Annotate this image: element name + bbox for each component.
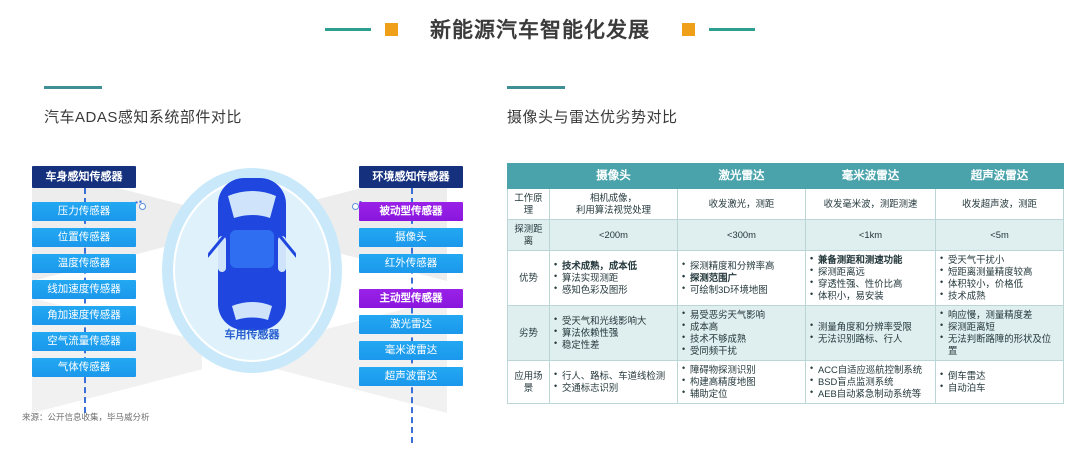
bullet-item: 无法识别路标、行人: [810, 333, 931, 345]
active-sensor-item-0[interactable]: 激光雷达: [359, 315, 463, 334]
table-cell: 收发超声波，测距: [936, 189, 1064, 220]
bullet-item: 算法实现测距: [554, 272, 673, 284]
group-spacer: [359, 280, 463, 289]
table-row: 优势技术成熟，成本低算法实现测距感知色彩及图形探测精度和分辨率高探测范围广可绘制…: [508, 251, 1064, 306]
bullet-item: 响应慢，测量精度差: [940, 309, 1059, 321]
bullet-item: 受天气和光线影响大: [554, 315, 673, 327]
bullet-item: 障碍物探测识别: [682, 364, 801, 376]
right-section-title: 摄像头与雷达优劣势对比: [507, 106, 678, 127]
body-sensor-item-5[interactable]: 空气流量传感器: [32, 332, 136, 351]
bullet-item: 兼备测距和测速功能: [810, 254, 931, 266]
active-sensor-group[interactable]: 主动型传感器: [359, 289, 463, 308]
cell-bullet-list: 兼备测距和测速功能探测距离远穿透性强、性价比高体积小，易安装: [810, 254, 931, 302]
bullet-item: 技术不够成熟: [682, 333, 801, 345]
table-cell: ACC自适应巡航控制系统BSD盲点监测系统AEB自动紧急制动系统等: [806, 361, 936, 404]
header-square-right-icon: [682, 23, 695, 36]
table-row: 工作原理相机成像，利用算法视觉处理收发激光，测距收发毫米波，测距测速收发超声波，…: [508, 189, 1064, 220]
table-cell: 技术成熟，成本低算法实现测距感知色彩及图形: [550, 251, 678, 306]
cell-bullet-list: 响应慢，测量精度差探测距离短无法判断路障的形状及位置: [940, 309, 1059, 357]
cell-bullet-list: 行人、路标、车道线检测交通标志识别: [554, 370, 673, 394]
bullet-item: 短距离测量精度较高: [940, 266, 1059, 278]
table-cell: <5m: [936, 220, 1064, 251]
table-row: 应用场景行人、路标、车道线检测交通标志识别障碍物探测识别构建高精度地图辅助定位A…: [508, 361, 1064, 404]
table-cell: 行人、路标、车道线检测交通标志识别: [550, 361, 678, 404]
table-col-mmwave: 毫米波雷达: [806, 164, 936, 189]
bullet-item: 可绘制3D环境地图: [682, 284, 801, 296]
passive-sensor-item-1[interactable]: 红外传感器: [359, 254, 463, 273]
table-cell: <300m: [678, 220, 806, 251]
left-section-rule: [44, 86, 102, 89]
passive-sensor-item-0[interactable]: 摄像头: [359, 228, 463, 247]
table-row-label: 应用场景: [508, 361, 550, 404]
table-cell: 倒车雷达自动泊车: [936, 361, 1064, 404]
bullet-item: BSD盲点监测系统: [810, 376, 931, 388]
bullet-item: 倒车雷达: [940, 370, 1059, 382]
table-row-label: 劣势: [508, 306, 550, 361]
table-body: 工作原理相机成像，利用算法视觉处理收发激光，测距收发毫米波，测距测速收发超声波，…: [508, 189, 1064, 404]
bullet-item: 探测距离远: [810, 266, 931, 278]
table-cell: 测量角度和分辨率受限无法识别路标、行人: [806, 306, 936, 361]
bullet-item: 算法依赖性强: [554, 327, 673, 339]
body-sensor-item-0[interactable]: 压力传感器: [32, 202, 136, 221]
bullet-item: 无法判断路障的形状及位置: [940, 333, 1059, 357]
cell-bullet-list: 受天气和光线影响大算法依赖性强稳定性差: [554, 315, 673, 351]
bullet-item: 测量角度和分辨率受限: [810, 321, 931, 333]
bullet-item: 探测距离短: [940, 321, 1059, 333]
slide-page: 新能源汽车智能化发展 汽车ADAS感知系统部件对比 摄像头与雷达优劣势对比 车: [0, 0, 1080, 463]
table-cell: 收发毫米波，测距测速: [806, 189, 936, 220]
table-cell: 兼备测距和测速功能探测距离远穿透性强、性价比高体积小，易安装: [806, 251, 936, 306]
cell-bullet-list: 障碍物探测识别构建高精度地图辅助定位: [682, 364, 801, 400]
table-cell: 探测精度和分辨率高探测范围广可绘制3D环境地图: [678, 251, 806, 306]
right-section-header: 摄像头与雷达优劣势对比: [507, 86, 678, 127]
center-label: 车用传感器: [162, 326, 342, 342]
bullet-item: 体积小，易安装: [810, 290, 931, 302]
connector-node-right: [352, 203, 359, 210]
car-top-view-icon: [208, 174, 296, 334]
bullet-item: 辅助定位: [682, 388, 801, 400]
body-sensor-item-1[interactable]: 位置传感器: [32, 228, 136, 247]
bullet-item: 体积较小，价格低: [940, 278, 1059, 290]
body-sensor-header: 车身感知传感器: [32, 166, 136, 188]
bullet-item: 稳定性差: [554, 339, 673, 351]
left-section-header: 汽车ADAS感知系统部件对比: [44, 86, 242, 127]
bullet-item: AEB自动紧急制动系统等: [810, 388, 931, 400]
table-cell: <1km: [806, 220, 936, 251]
body-sensor-item-4[interactable]: 角加速度传感器: [32, 306, 136, 325]
active-sensor-item-1[interactable]: 毫米波雷达: [359, 341, 463, 360]
table-corner-cell: [508, 164, 550, 189]
table-cell: 易受恶劣天气影响成本高技术不够成熟受同频干扰: [678, 306, 806, 361]
body-sensor-item-6[interactable]: 气体传感器: [32, 358, 136, 377]
bullet-item: 成本高: [682, 321, 801, 333]
table-row-label: 工作原理: [508, 189, 550, 220]
table-row: 劣势受天气和光线影响大算法依赖性强稳定性差易受恶劣天气影响成本高技术不够成熟受同…: [508, 306, 1064, 361]
cell-bullet-list: 易受恶劣天气影响成本高技术不够成熟受同频干扰: [682, 309, 801, 357]
bullet-item: 探测范围广: [682, 272, 801, 284]
bullet-item: 穿透性强、性价比高: [810, 278, 931, 290]
bullet-item: 受同频干扰: [682, 345, 801, 357]
bullet-item: 构建高精度地图: [682, 376, 801, 388]
table-row-label: 优势: [508, 251, 550, 306]
bullet-item: 感知色彩及图形: [554, 284, 673, 296]
table-col-ultrasonic: 超声波雷达: [936, 164, 1064, 189]
comparison-table: 摄像头 激光雷达 毫米波雷达 超声波雷达 工作原理相机成像，利用算法视觉处理收发…: [507, 163, 1064, 404]
connector-node-left: [139, 203, 146, 210]
body-sensor-column: 车身感知传感器 压力传感器 位置传感器 温度传感器 线加速度传感器 角加速度传感…: [32, 166, 136, 384]
cell-bullet-list: 受天气干扰小短距离测量精度较高体积较小，价格低技术成熟: [940, 254, 1059, 302]
bullet-item: 行人、路标、车道线检测: [554, 370, 673, 382]
bullet-item: 易受恶劣天气影响: [682, 309, 801, 321]
table-cell: 响应慢，测量精度差探测距离短无法判断路障的形状及位置: [936, 306, 1064, 361]
source-note: 来源：公开信息收集，毕马威分析: [22, 411, 150, 423]
table-col-camera: 摄像头: [550, 164, 678, 189]
table-col-lidar: 激光雷达: [678, 164, 806, 189]
table-cell: 受天气和光线影响大算法依赖性强稳定性差: [550, 306, 678, 361]
cell-bullet-list: 测量角度和分辨率受限无法识别路标、行人: [810, 321, 931, 345]
table-header-row: 摄像头 激光雷达 毫米波雷达 超声波雷达: [508, 164, 1064, 189]
page-title: 新能源汽车智能化发展: [412, 14, 668, 44]
active-sensor-item-2[interactable]: 超声波雷达: [359, 367, 463, 386]
table-cell: 相机成像，利用算法视觉处理: [550, 189, 678, 220]
slide-header: 新能源汽车智能化发展: [0, 0, 1080, 58]
left-section-title: 汽车ADAS感知系统部件对比: [44, 106, 242, 127]
bullet-item: 受天气干扰小: [940, 254, 1059, 266]
bullet-item: 技术成熟: [940, 290, 1059, 302]
table-cell: 受天气干扰小短距离测量精度较高体积较小，价格低技术成熟: [936, 251, 1064, 306]
table-cell: 收发激光，测距: [678, 189, 806, 220]
bullet-item: ACC自适应巡航控制系统: [810, 364, 931, 376]
body-sensor-item-3[interactable]: 线加速度传感器: [32, 280, 136, 299]
cell-bullet-list: 探测精度和分辨率高探测范围广可绘制3D环境地图: [682, 260, 801, 296]
cell-bullet-list: 技术成熟，成本低算法实现测距感知色彩及图形: [554, 260, 673, 296]
bullet-item: 交通标志识别: [554, 382, 673, 394]
environment-sensor-header: 环境感知传感器: [359, 166, 463, 188]
body-sensor-item-2[interactable]: 温度传感器: [32, 254, 136, 273]
table-cell: <200m: [550, 220, 678, 251]
right-section-rule: [507, 86, 565, 89]
bullet-item: 技术成熟，成本低: [554, 260, 673, 272]
header-dash-right: [709, 28, 755, 31]
cell-bullet-list: ACC自适应巡航控制系统BSD盲点监测系统AEB自动紧急制动系统等: [810, 364, 931, 400]
table-row: 探测距离<200m<300m<1km<5m: [508, 220, 1064, 251]
header-dash-left: [325, 28, 371, 31]
table-cell: 障碍物探测识别构建高精度地图辅助定位: [678, 361, 806, 404]
bullet-item: 探测精度和分辨率高: [682, 260, 801, 272]
passive-sensor-group[interactable]: 被动型传感器: [359, 202, 463, 221]
environment-sensor-column: 环境感知传感器 被动型传感器 摄像头 红外传感器 主动型传感器 激光雷达 毫米波…: [359, 166, 463, 393]
table-row-label: 探测距离: [508, 220, 550, 251]
sensor-architecture-diagram: 车用传感器 车身感知传感器 压力传感器 位置传感器 温度传感器 线加速度传感器 …: [22, 148, 482, 438]
cell-bullet-list: 倒车雷达自动泊车: [940, 370, 1059, 394]
header-square-left-icon: [385, 23, 398, 36]
bullet-item: 自动泊车: [940, 382, 1059, 394]
